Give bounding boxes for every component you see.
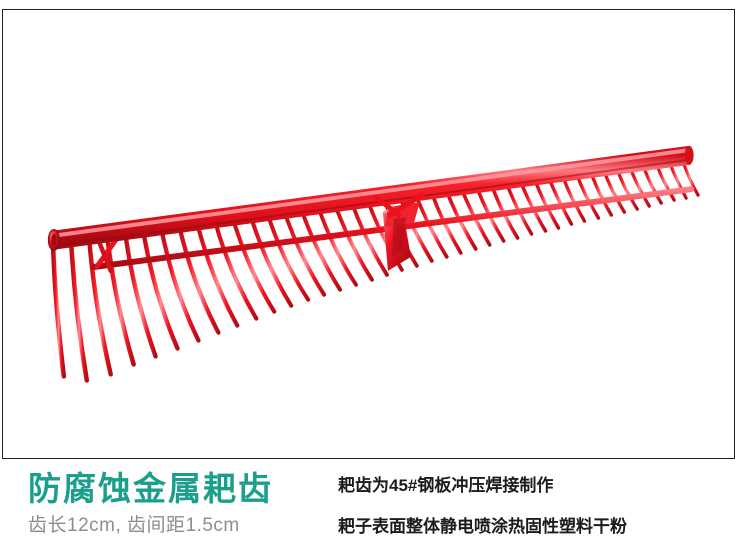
product-title: 防腐蚀金属耙齿 xyxy=(28,469,328,509)
caption-band: 防腐蚀金属耙齿 齿长12cm, 齿间距1.5cm 耙齿为45#钢板冲压焊接制作 … xyxy=(0,463,750,556)
product-promo-page: 防腐蚀金属耙齿 齿长12cm, 齿间距1.5cm 耙齿为45#钢板冲压焊接制作 … xyxy=(0,0,750,556)
rake-illustration xyxy=(3,10,734,458)
spec-line-1: 耙齿为45#钢板冲压焊接制作 xyxy=(338,475,738,496)
rake-main-tube xyxy=(48,146,693,251)
caption-left-block: 防腐蚀金属耙齿 齿长12cm, 齿间距1.5cm xyxy=(28,469,328,539)
product-subtitle: 齿长12cm, 齿间距1.5cm xyxy=(28,513,328,539)
caption-right-block: 耙齿为45#钢板冲压焊接制作 耙子表面整体静电喷涂热固性塑料干粉 xyxy=(338,475,738,537)
product-photo xyxy=(3,10,734,458)
spec-line-2: 耙子表面整体静电喷涂热固性塑料干粉 xyxy=(338,516,738,537)
product-photo-frame xyxy=(2,9,735,459)
